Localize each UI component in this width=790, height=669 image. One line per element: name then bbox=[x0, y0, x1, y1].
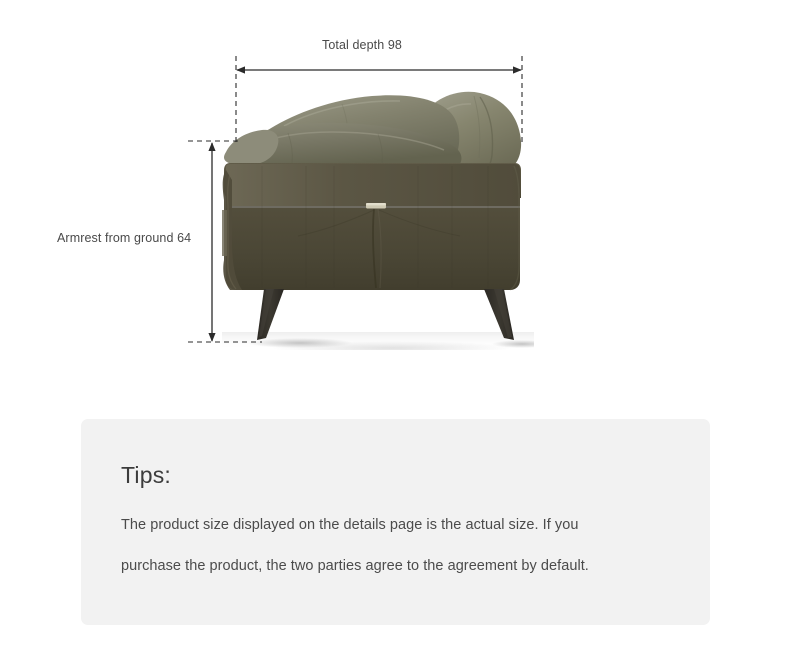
armrest-height-label: Armrest from ground 64 bbox=[57, 231, 191, 246]
dimension-diagram: Total depth 98 Armrest from ground 64 bbox=[0, 0, 790, 400]
product-detail-page: Total depth 98 Armrest from ground 64 Ti… bbox=[0, 0, 790, 669]
total-depth-label: Total depth 98 bbox=[322, 38, 402, 53]
tips-title: Tips: bbox=[121, 462, 171, 489]
tips-card: Tips: The product size displayed on the … bbox=[81, 419, 710, 625]
depth-extension-lines bbox=[236, 56, 522, 143]
tips-text-line: purchase the product, the two parties ag… bbox=[121, 558, 589, 574]
tips-text-line: The product size displayed on the detail… bbox=[121, 517, 578, 533]
armrest-extension-lines bbox=[188, 141, 262, 342]
